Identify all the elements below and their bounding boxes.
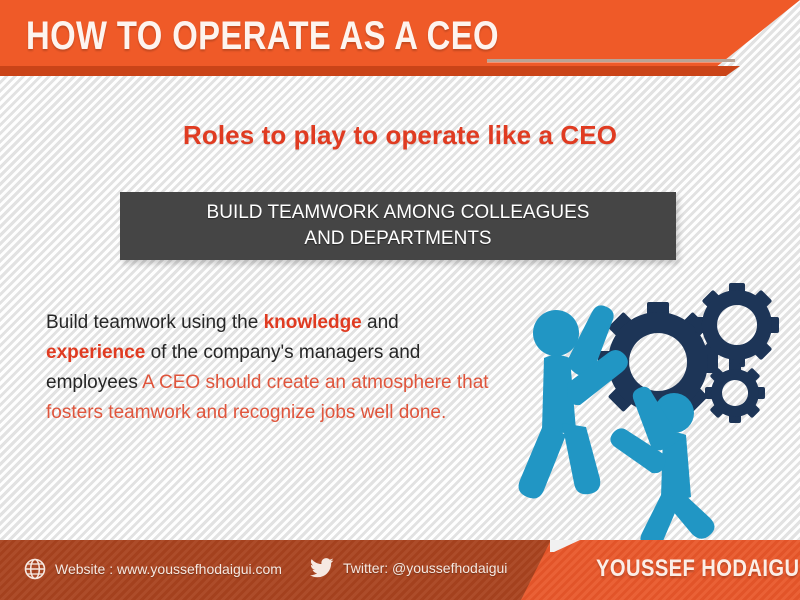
page-title: Roles to play to operate like a CEO [0,120,800,151]
banner-line-1: BUILD TEAMWORK AMONG COLLEAGUES [207,202,590,223]
header-underline-stripe [0,66,800,76]
person-right-reaching [610,387,714,540]
body-paragraph: Build teamwork using the knowledge and e… [46,308,496,428]
gear-small [705,363,765,423]
header-band: HOW TO OPERATE AS A CEO [0,0,800,80]
header-rule-line [487,59,735,62]
illustration-svg [500,265,800,540]
body-seg-1: Build teamwork using the [46,312,264,333]
footer-brand: YOUSSEF HODAIGUI [596,555,800,583]
body-highlight-knowledge: knowledge [264,312,362,333]
footer-website-label: Website : www.youssefhodaigui.com [55,561,282,577]
footer-twitter-item[interactable]: Twitter: @youssefhodaigui [310,558,507,578]
body-seg-3: and [362,312,399,333]
header-title: HOW TO OPERATE AS A CEO [26,14,499,59]
footer-bar: Website : www.youssefhodaigui.com Twitte… [0,540,800,600]
section-banner: BUILD TEAMWORK AMONG COLLEAGUES AND DEPA… [120,192,676,260]
twitter-bird-icon [310,558,334,578]
banner-line-2: AND DEPARTMENTS [304,228,491,249]
body-highlight-experience: experience [46,342,145,363]
slide-canvas: HOW TO OPERATE AS A CEO Roles to play to… [0,0,800,600]
globe-icon [24,558,46,580]
teamwork-gears-illustration [500,265,800,540]
footer-website-item[interactable]: Website : www.youssefhodaigui.com [24,558,282,580]
person-left-reaching [519,305,628,498]
footer-twitter-label: Twitter: @youssefhodaigui [343,560,507,576]
section-banner-text: BUILD TEAMWORK AMONG COLLEAGUES AND DEPA… [195,200,602,252]
gear-medium [695,283,779,367]
